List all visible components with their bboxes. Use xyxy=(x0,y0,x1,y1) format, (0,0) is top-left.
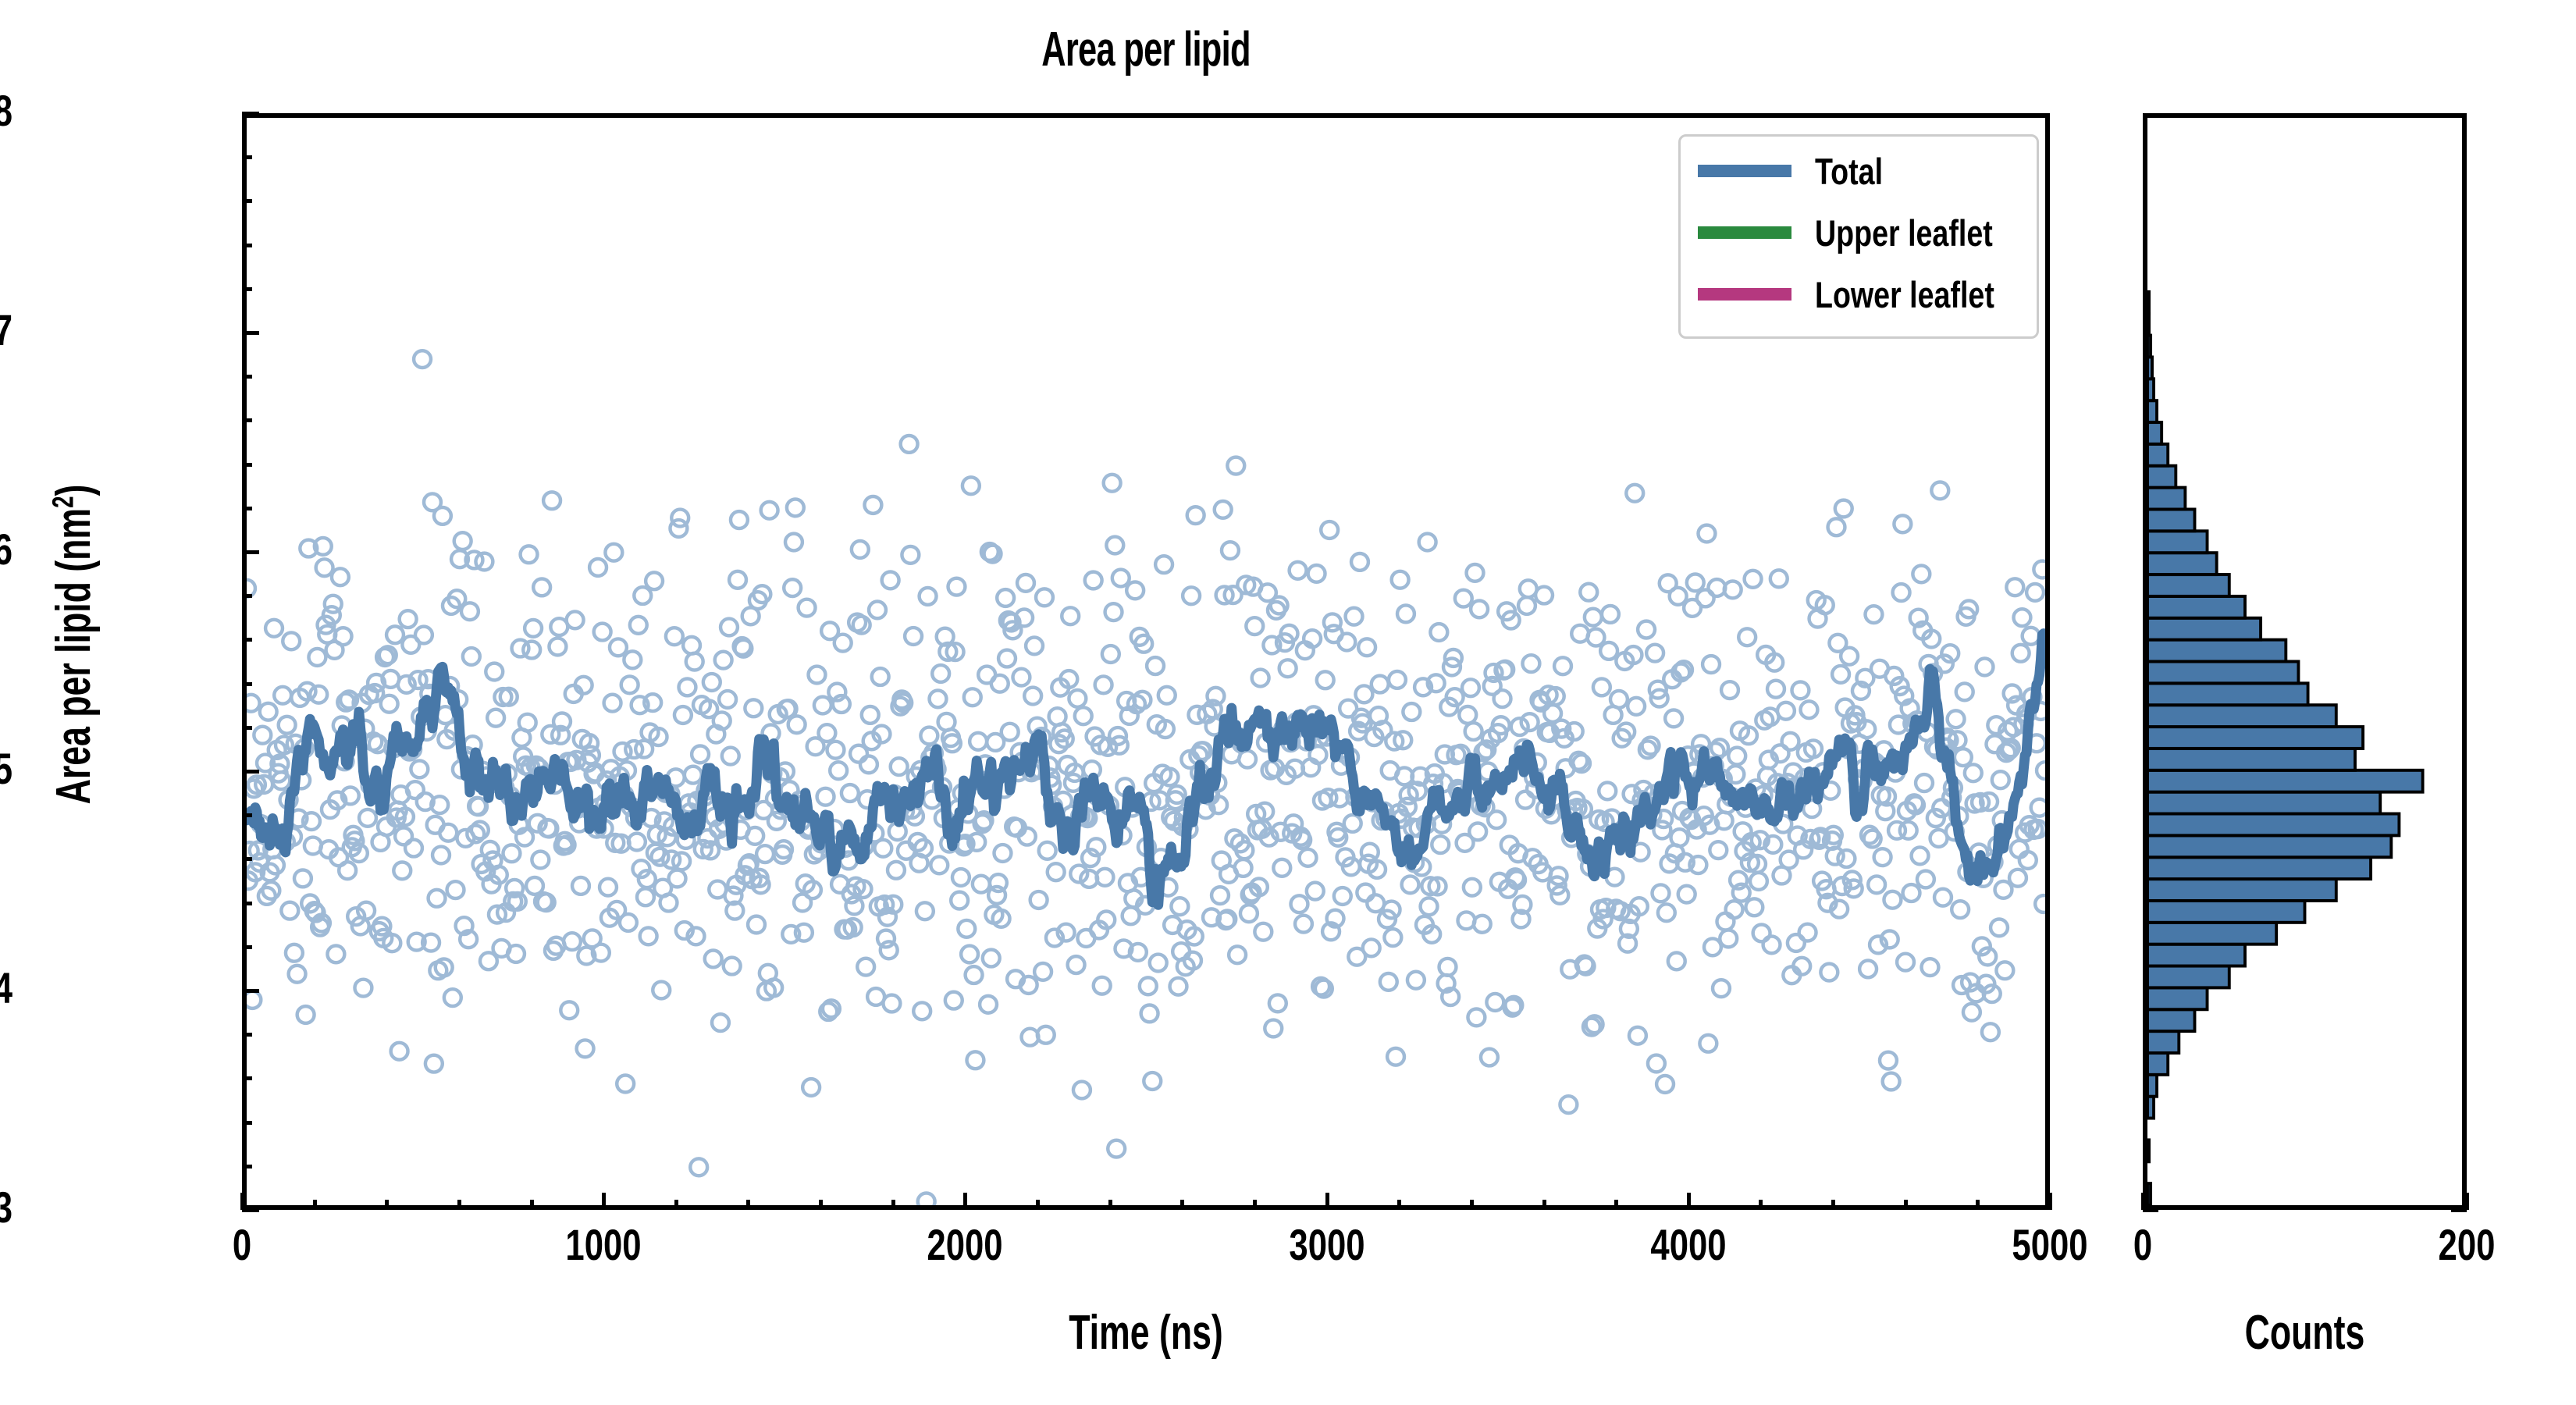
histogram-bar xyxy=(2147,314,2149,336)
y-tick-minor xyxy=(242,463,252,467)
histogram-bar xyxy=(2147,596,2245,618)
x-tick-major xyxy=(602,1193,606,1210)
histogram-bar xyxy=(2147,618,2261,640)
x-tick-minor xyxy=(1614,1200,1618,1210)
y-axis-label-text: Area per lipid (nm xyxy=(47,508,101,805)
histogram-bar xyxy=(2147,944,2245,966)
x-tick-minor xyxy=(891,1200,895,1210)
histogram-bar xyxy=(2147,553,2217,574)
y-tick-label: 0.67 xyxy=(0,304,12,355)
histogram-bar xyxy=(2147,466,2176,488)
y-tick-minor xyxy=(242,244,252,247)
histogram-bar xyxy=(2147,814,2399,836)
y-tick-minor xyxy=(242,594,252,598)
x-tick-minor xyxy=(819,1200,823,1210)
y-axis-label-tail: ) xyxy=(47,485,101,496)
y-tick-major xyxy=(242,331,259,335)
y-tick-major xyxy=(242,989,259,993)
x-tick-minor xyxy=(1036,1200,1040,1210)
x-tick-minor xyxy=(1253,1200,1257,1210)
histogram-bar xyxy=(2147,488,2185,510)
y-tick-label: 0.64 xyxy=(0,962,12,1013)
y-tick-label: 0.66 xyxy=(0,524,12,574)
histogram-bar xyxy=(2147,879,2336,901)
x-tick-minor xyxy=(1108,1200,1112,1210)
histogram-bar xyxy=(2147,1097,2154,1119)
y-tick-minor xyxy=(242,813,252,817)
y-tick-minor xyxy=(242,902,252,905)
histogram-bar xyxy=(2147,379,2154,400)
histogram-bar xyxy=(2147,705,2336,727)
histogram-bar xyxy=(2147,509,2194,531)
x-tick-minor xyxy=(674,1200,678,1210)
x-tick-minor xyxy=(1180,1200,1184,1210)
x-tick-label: 4000 xyxy=(1634,1219,1743,1270)
histogram-bar xyxy=(2147,531,2208,553)
histogram-bar xyxy=(2147,749,2355,770)
legend[interactable]: TotalUpper leafletLower leaflet xyxy=(1678,134,2039,339)
y-tick-minor xyxy=(242,682,252,686)
histogram-bar xyxy=(2147,292,2149,314)
y-tick-major xyxy=(242,112,259,116)
histogram-bar xyxy=(2147,422,2161,444)
histogram-bars xyxy=(2147,118,2462,1205)
y-tick-minor xyxy=(242,418,252,422)
page-title: Area per lipid xyxy=(513,22,1778,77)
hist-x-tick-label: 0 xyxy=(2088,1219,2197,1270)
y-tick-minor xyxy=(242,1076,252,1080)
y-tick-minor xyxy=(242,726,252,730)
y-tick-minor xyxy=(242,287,252,291)
x-tick-minor xyxy=(530,1200,534,1210)
y-tick-major xyxy=(242,550,259,554)
histogram-bar xyxy=(2147,357,2152,379)
y-tick-minor xyxy=(242,1121,252,1125)
y-axis-label-superscript: 2 xyxy=(46,496,80,507)
histogram-bar xyxy=(2147,857,2371,879)
y-tick-major xyxy=(242,1208,259,1212)
x-tick-major xyxy=(2048,1193,2052,1210)
x-tick-label: 0 xyxy=(187,1219,297,1270)
y-tick-minor xyxy=(242,155,252,159)
x-tick-major xyxy=(1325,1193,1329,1210)
histogram-bar xyxy=(2147,966,2229,988)
x-tick-minor xyxy=(1759,1200,1763,1210)
histogram-bar xyxy=(2147,770,2423,792)
legend-item[interactable]: Lower leaflet xyxy=(1698,271,2039,318)
y-tick-minor xyxy=(242,1165,252,1168)
figure-canvas: Area per lipid Area per lipid (nm2) Time… xyxy=(0,0,2576,1405)
y-tick-minor xyxy=(242,375,252,379)
y-tick-label: 0.65 xyxy=(0,743,12,794)
x-tick-label: 1000 xyxy=(549,1219,658,1270)
x-tick-minor xyxy=(746,1200,750,1210)
histogram-bar xyxy=(2147,1053,2168,1075)
histogram-axes xyxy=(2143,113,2467,1210)
legend-label: Upper leaflet xyxy=(1815,212,1993,254)
histogram-bar xyxy=(2147,640,2286,662)
legend-swatch-total xyxy=(1698,165,1791,177)
legend-label: Total xyxy=(1815,150,1883,193)
x-tick-minor xyxy=(1470,1200,1474,1210)
y-tick-minor xyxy=(242,638,252,642)
legend-swatch-upper-leaflet xyxy=(1698,226,1791,239)
x-tick-label: 3000 xyxy=(1272,1219,1381,1270)
histogram-bar xyxy=(2147,1031,2179,1053)
histogram-bar xyxy=(2147,574,2229,596)
histogram-bar xyxy=(2147,1009,2194,1031)
legend-swatch-lower-leaflet xyxy=(1698,288,1791,301)
x-tick-minor xyxy=(1976,1200,1980,1210)
x-tick-major xyxy=(1687,1193,1691,1210)
x-tick-minor xyxy=(1831,1200,1835,1210)
y-tick-label: 0.63 xyxy=(0,1182,12,1232)
x-tick-minor xyxy=(1542,1200,1546,1210)
histogram-bar xyxy=(2147,835,2391,857)
x-tick-major xyxy=(240,1193,244,1210)
x-tick-minor xyxy=(457,1200,461,1210)
y-tick-minor xyxy=(242,857,252,861)
y-tick-minor xyxy=(242,945,252,949)
histogram-bar xyxy=(2147,662,2298,684)
x-tick-minor xyxy=(313,1200,317,1210)
histogram-bar xyxy=(2147,923,2276,944)
x-axis-label: Time (ns) xyxy=(495,1305,1797,1361)
x-tick-major xyxy=(963,1193,967,1210)
histogram-bar xyxy=(2147,727,2363,749)
histogram-bar xyxy=(2147,683,2308,705)
histogram-bar xyxy=(2147,1075,2157,1097)
y-axis-label: Area per lipid (nm2) xyxy=(46,250,101,1040)
y-tick-major xyxy=(242,770,259,774)
histogram-bar xyxy=(2147,1183,2151,1205)
x-tick-minor xyxy=(1397,1200,1401,1210)
hist-x-tick-label: 200 xyxy=(2412,1219,2521,1270)
legend-item[interactable]: Upper leaflet xyxy=(1698,209,2037,256)
y-tick-minor xyxy=(242,507,252,510)
y-tick-minor xyxy=(242,1033,252,1037)
y-tick-label: 0.68 xyxy=(0,85,12,136)
histogram-bar xyxy=(2147,1140,2149,1161)
legend-label: Lower leaflet xyxy=(1815,273,1994,316)
y-tick-minor xyxy=(242,199,252,203)
x-tick-minor xyxy=(1904,1200,1908,1210)
histogram-bar xyxy=(2147,444,2168,466)
histogram-bar xyxy=(2147,336,2151,357)
histogram-bar xyxy=(2147,792,2380,814)
histogram-bar xyxy=(2147,400,2157,422)
legend-item[interactable]: Total xyxy=(1698,148,1900,194)
histogram-bar xyxy=(2147,901,2305,923)
x-tick-label: 2000 xyxy=(910,1219,1019,1270)
hist-x-axis-label: Counts xyxy=(2188,1305,2421,1361)
x-tick-minor xyxy=(385,1200,389,1210)
histogram-bar xyxy=(2147,987,2208,1009)
